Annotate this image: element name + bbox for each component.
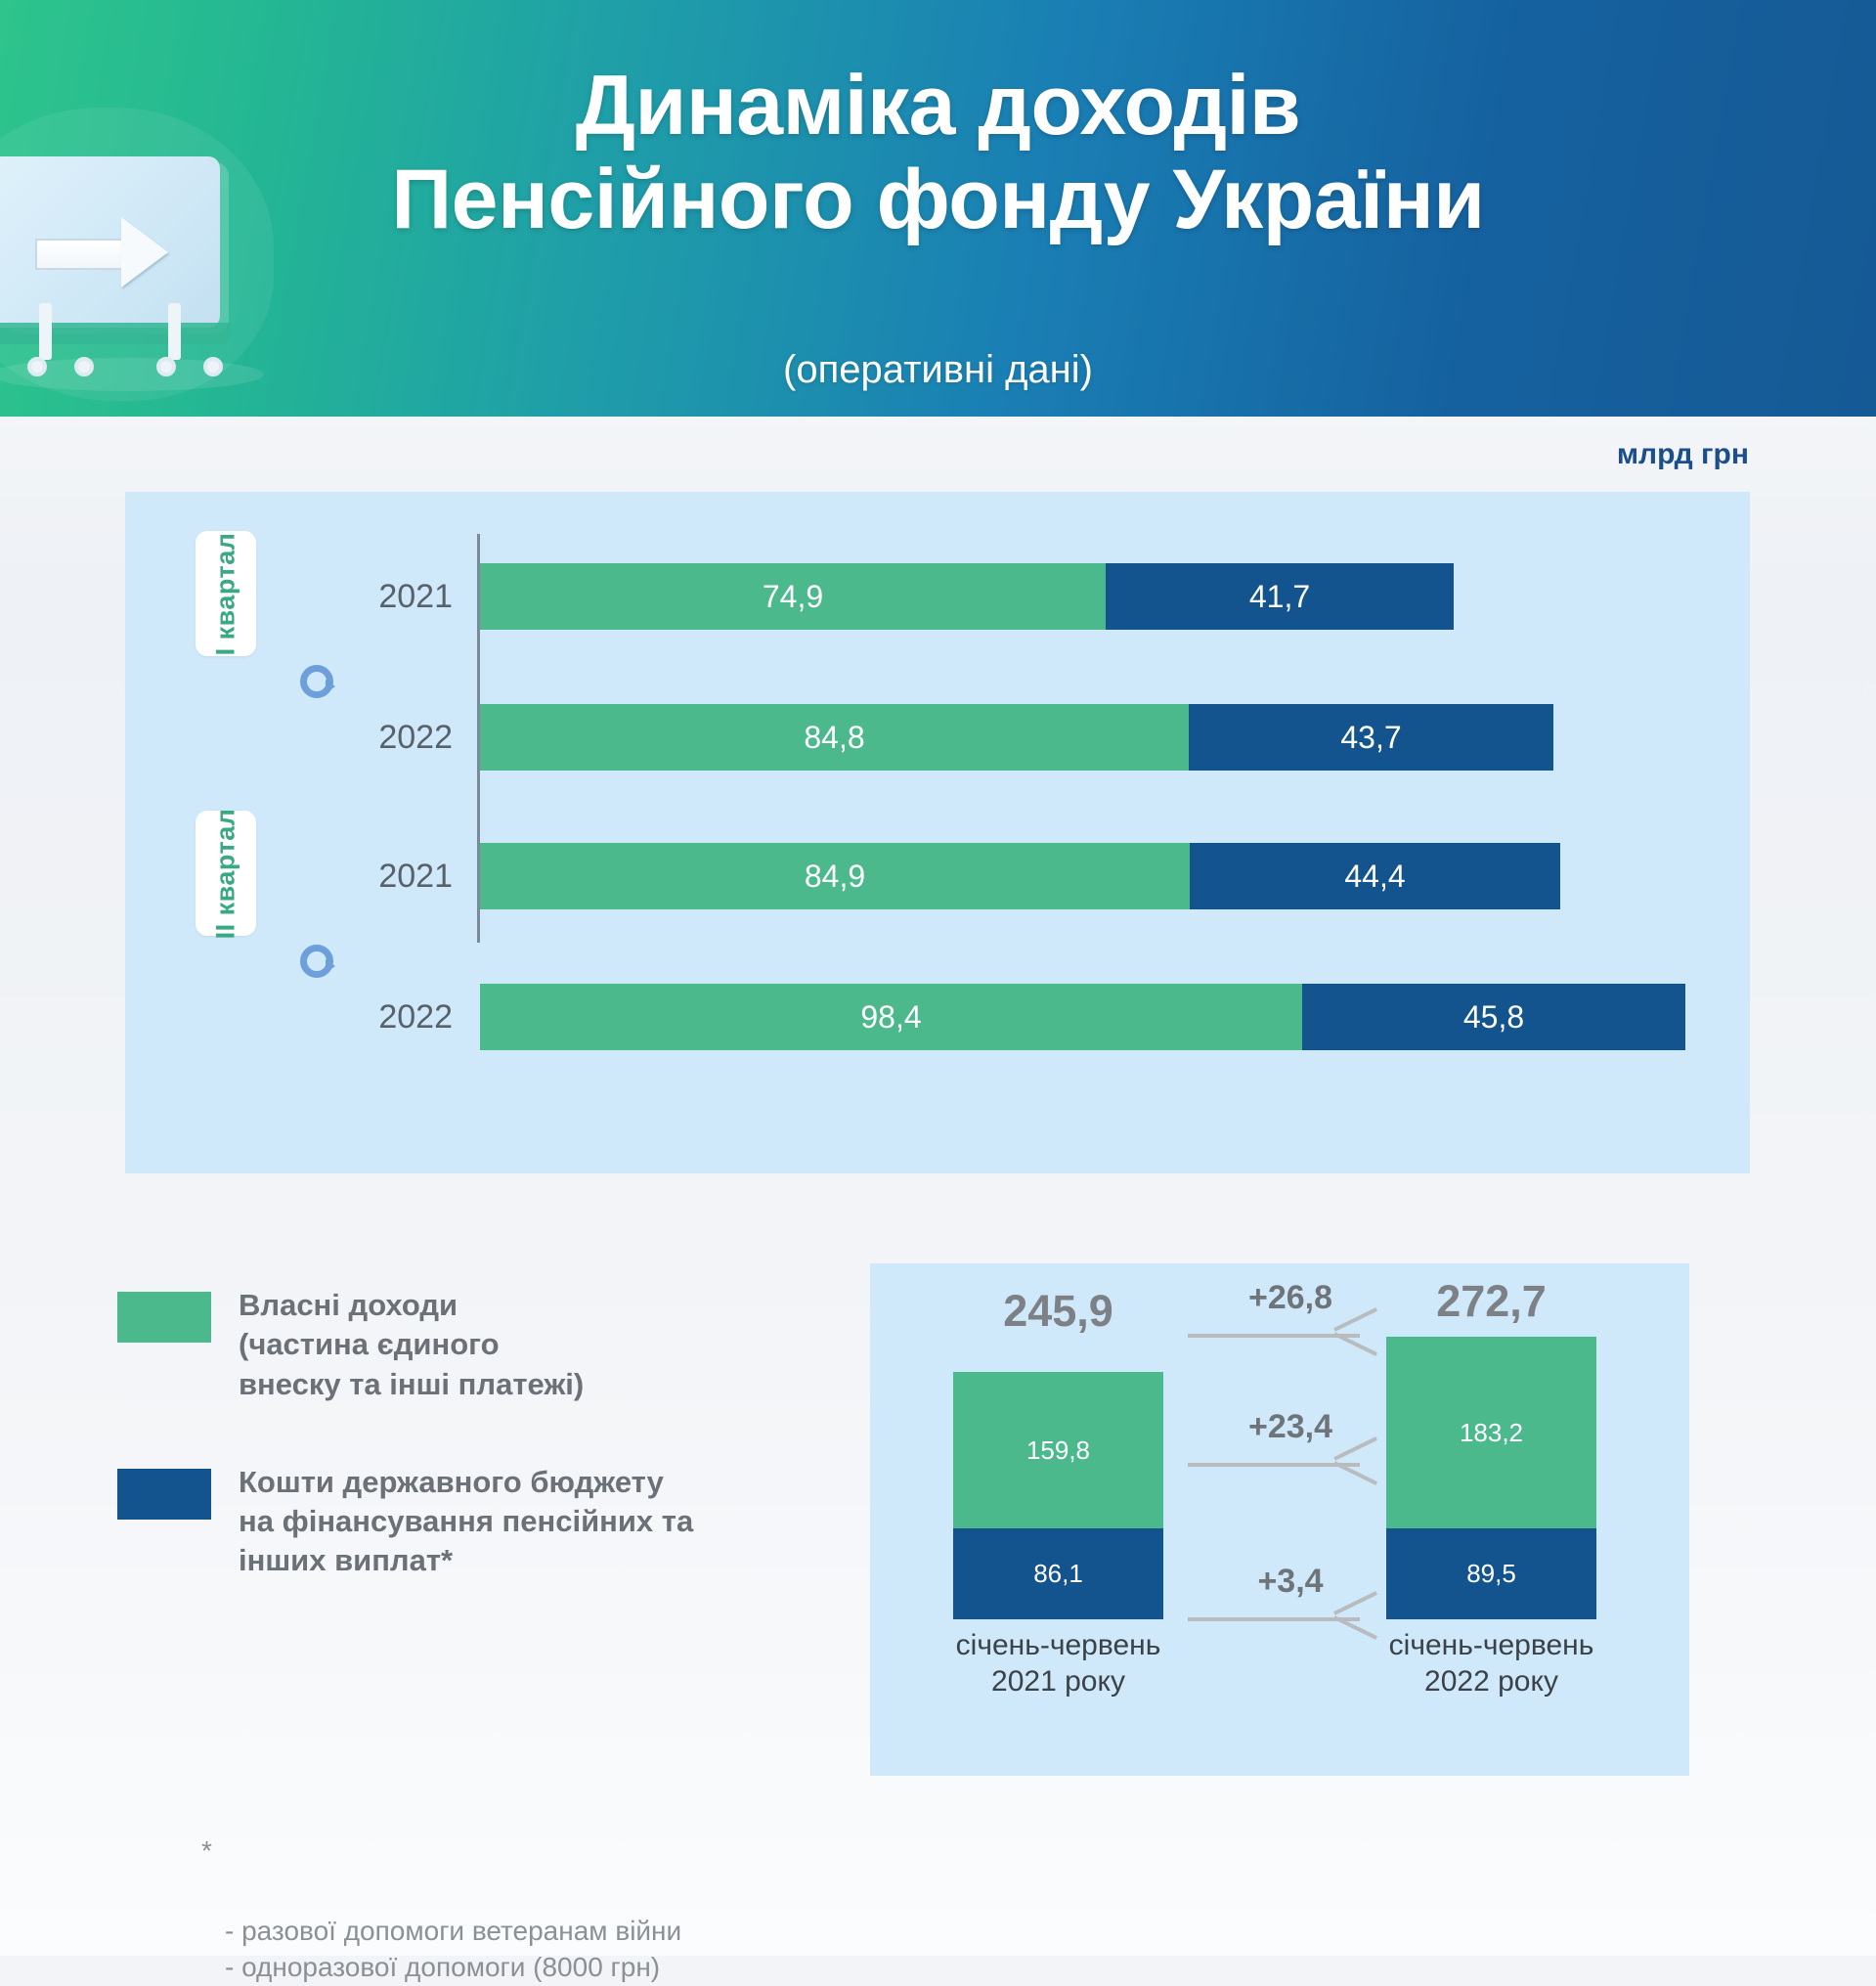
bar-segment-own-income: 84,9	[480, 843, 1190, 909]
column-total-2021: 245,9	[953, 1286, 1163, 1337]
title-line-2: Пенсійного фонду України	[0, 153, 1876, 246]
bar-value-state-budget: 44,4	[1344, 859, 1405, 895]
column-value-state-budget-2021: 86,1	[1033, 1559, 1083, 1589]
bar-row-q1-2021: 2021 74,9 41,7	[480, 563, 1454, 630]
bar-value-own-income: 74,9	[763, 579, 823, 615]
bar-value-state-budget: 43,7	[1340, 720, 1401, 756]
column-value-own-income-2021: 159,8	[1026, 1435, 1090, 1466]
group-marker-q1-icon	[300, 665, 333, 698]
group-badge-q1-label: I квартал	[211, 532, 241, 655]
delta-own-income: +23,4	[1188, 1408, 1393, 1481]
legend-label-state-budget: Кошти державного бюджету на фінансування…	[239, 1463, 821, 1581]
footnote-marker: *	[201, 1832, 212, 1870]
bar-segment-state-budget: 43,7	[1189, 704, 1553, 771]
bar-segment-state-budget: 41,7	[1106, 563, 1454, 630]
column-caption-2021: січень-червень 2021 року	[924, 1628, 1193, 1699]
delta-own-income-arrow-icon	[1188, 1448, 1393, 1481]
group-badge-q1: I квартал	[196, 531, 256, 656]
page-title: Динаміка доходів Пенсійного фонду Україн…	[0, 59, 1876, 247]
bar-value-state-budget: 45,8	[1463, 999, 1524, 1036]
delta-total: +26,8	[1188, 1279, 1393, 1352]
column-segment-state-budget-2022: 89,5	[1386, 1528, 1596, 1619]
bar-segment-state-budget: 45,8	[1302, 984, 1685, 1050]
bar-row-label-q2-2022: 2022	[378, 984, 480, 1050]
group-badge-q2: II квартал	[196, 811, 256, 936]
group-marker-q2-icon	[300, 945, 333, 978]
group-badge-q2-label: II квартал	[211, 808, 241, 939]
bar-row-q2-2022: 2022 98,4 45,8	[480, 984, 1685, 1050]
column-segment-own-income-2021: 159,8	[953, 1372, 1163, 1528]
bar-segment-state-budget: 44,4	[1190, 843, 1560, 909]
column-value-state-budget-2022: 89,5	[1466, 1559, 1516, 1589]
column-total-2022: 272,7	[1386, 1276, 1596, 1327]
delta-state-budget-arrow-icon	[1188, 1603, 1393, 1636]
footnote: * - разової допомоги ветеранам війни - о…	[225, 1838, 681, 1986]
delta-total-arrow-icon	[1188, 1319, 1393, 1352]
column-2021: 245,9 159,8 86,1 січень-червень 2021 рок…	[953, 1286, 1163, 1755]
legend-item-state-budget: Кошти державного бюджету на фінансування…	[117, 1463, 821, 1581]
footnote-text: - разової допомоги ветеранам війни - одн…	[225, 1916, 681, 1983]
header-banner: Динаміка доходів Пенсійного фонду Україн…	[0, 0, 1876, 417]
bar-value-state-budget: 41,7	[1249, 579, 1310, 615]
legend-item-own-income: Власні доходи (частина єдиного внеску та…	[117, 1286, 821, 1404]
bar-row-q1-2022: 2022 84,8 43,7	[480, 704, 1553, 771]
column-segment-state-budget-2021: 86,1	[953, 1528, 1163, 1619]
delta-state-budget: +3,4	[1188, 1563, 1393, 1636]
bar-value-own-income: 84,8	[804, 720, 864, 756]
bar-segment-own-income: 98,4	[480, 984, 1302, 1050]
column-value-own-income-2022: 183,2	[1460, 1418, 1523, 1448]
legend: Власні доходи (частина єдиного внеску та…	[117, 1286, 821, 1626]
legend-swatch-green	[117, 1292, 211, 1343]
column-segment-own-income-2022: 183,2	[1386, 1337, 1596, 1528]
legend-swatch-blue	[117, 1469, 211, 1520]
unit-label: млрд грн	[1617, 438, 1749, 471]
page-subtitle: (оперативні дані)	[0, 348, 1876, 392]
title-line-1: Динаміка доходів	[0, 59, 1876, 153]
bar-row-label-q1-2022: 2022	[378, 704, 480, 771]
bar-segment-own-income: 84,8	[480, 704, 1189, 771]
bar-segment-own-income: 74,9	[480, 563, 1106, 630]
column-caption-2022: січень-червень 2022 року	[1357, 1628, 1626, 1699]
bar-value-own-income: 84,9	[805, 859, 865, 895]
bar-row-label-q2-2021: 2021	[378, 843, 480, 909]
column-2022: 272,7 183,2 89,5 січень-червень 2022 рок…	[1386, 1286, 1596, 1755]
legend-label-own-income: Власні доходи (частина єдиного внеску та…	[239, 1286, 821, 1404]
bar-row-label-q1-2021: 2021	[378, 563, 480, 630]
bar-row-q2-2021: 2021 84,9 44,4	[480, 843, 1560, 909]
infographic-page: Динаміка доходів Пенсійного фонду Україн…	[0, 0, 1876, 1956]
bar-value-own-income: 98,4	[860, 999, 921, 1036]
